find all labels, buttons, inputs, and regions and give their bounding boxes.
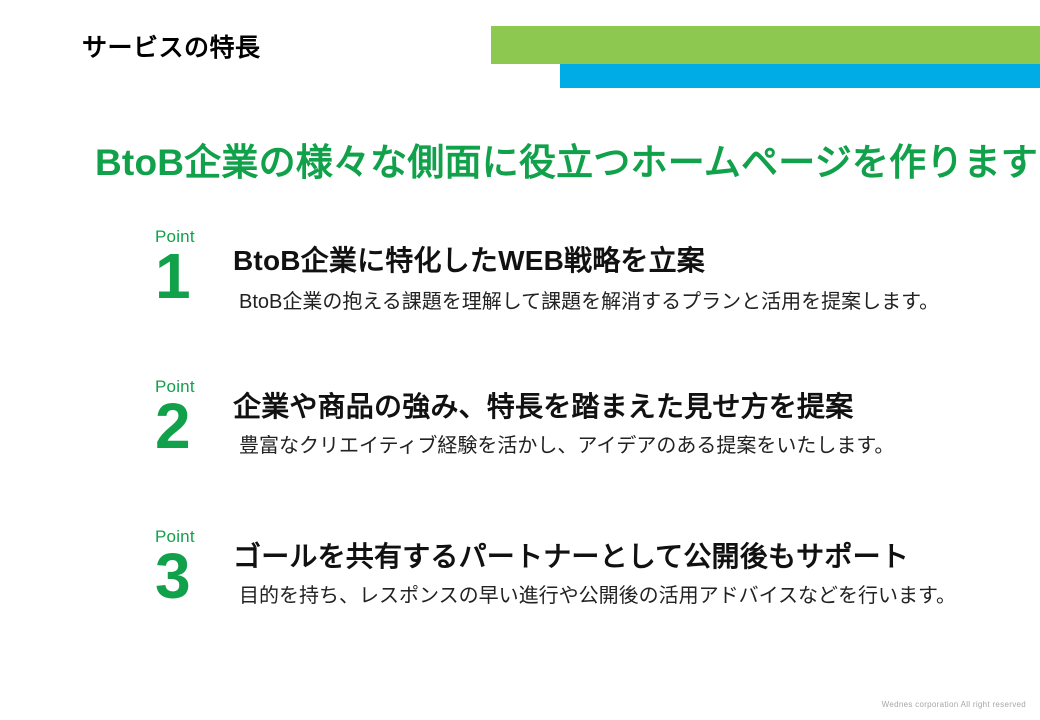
- point-body-2: 企業や商品の強み、特長を踏まえた見せ方を提案 豊富なクリエイティブ経験を活かし、…: [233, 378, 1025, 459]
- point-number-3: 3: [155, 547, 233, 606]
- point-marker-2: Point 2: [155, 378, 233, 456]
- point-marker-1: Point 1: [155, 228, 233, 306]
- point-number-2: 2: [155, 397, 233, 456]
- point-title-2: 企業や商品の強み、特長を踏まえた見せ方を提案: [233, 390, 1025, 424]
- point-number-1: 1: [155, 247, 233, 306]
- point-body-3: ゴールを共有するパートナーとして公開後もサポート 目的を持ち、レスポンスの早い進…: [233, 528, 1025, 609]
- point-description-2: 豊富なクリエイティブ経験を活かし、アイデアのある提案をいたします。: [239, 433, 1025, 459]
- point-block-3: Point 3 ゴールを共有するパートナーとして公開後もサポート 目的を持ち、レ…: [155, 528, 1025, 648]
- point-marker-3: Point 3: [155, 528, 233, 606]
- point-block-1: Point 1 BtoB企業に特化したWEB戦略を立案 BtoB企業の抱える課題…: [155, 228, 1025, 348]
- footer-copyright: Wednes corporation All right reserved: [882, 700, 1026, 709]
- slide-canvas: サービスの特長 BtoB企業の様々な側面に役立つホームページを作ります Poin…: [0, 0, 1040, 720]
- point-description-1: BtoB企業の抱える課題を理解して課題を解消するプランと活用を提案します。: [239, 289, 1025, 315]
- point-title-3: ゴールを共有するパートナーとして公開後もサポート: [233, 540, 1025, 574]
- header-bar-blue: [560, 64, 1040, 88]
- slide-kicker: サービスの特長: [82, 28, 261, 64]
- header-bar-green: [491, 26, 1040, 64]
- point-title-1: BtoB企業に特化したWEB戦略を立案: [233, 244, 1025, 278]
- point-description-3: 目的を持ち、レスポンスの早い進行や公開後の活用アドバイスなどを行います。: [239, 583, 1025, 609]
- point-block-2: Point 2 企業や商品の強み、特長を踏まえた見せ方を提案 豊富なクリエイティ…: [155, 378, 1025, 498]
- slide-headline: BtoB企業の様々な側面に役立つホームページを作ります: [95, 132, 1038, 186]
- point-body-1: BtoB企業に特化したWEB戦略を立案 BtoB企業の抱える課題を理解して課題を…: [233, 228, 1025, 315]
